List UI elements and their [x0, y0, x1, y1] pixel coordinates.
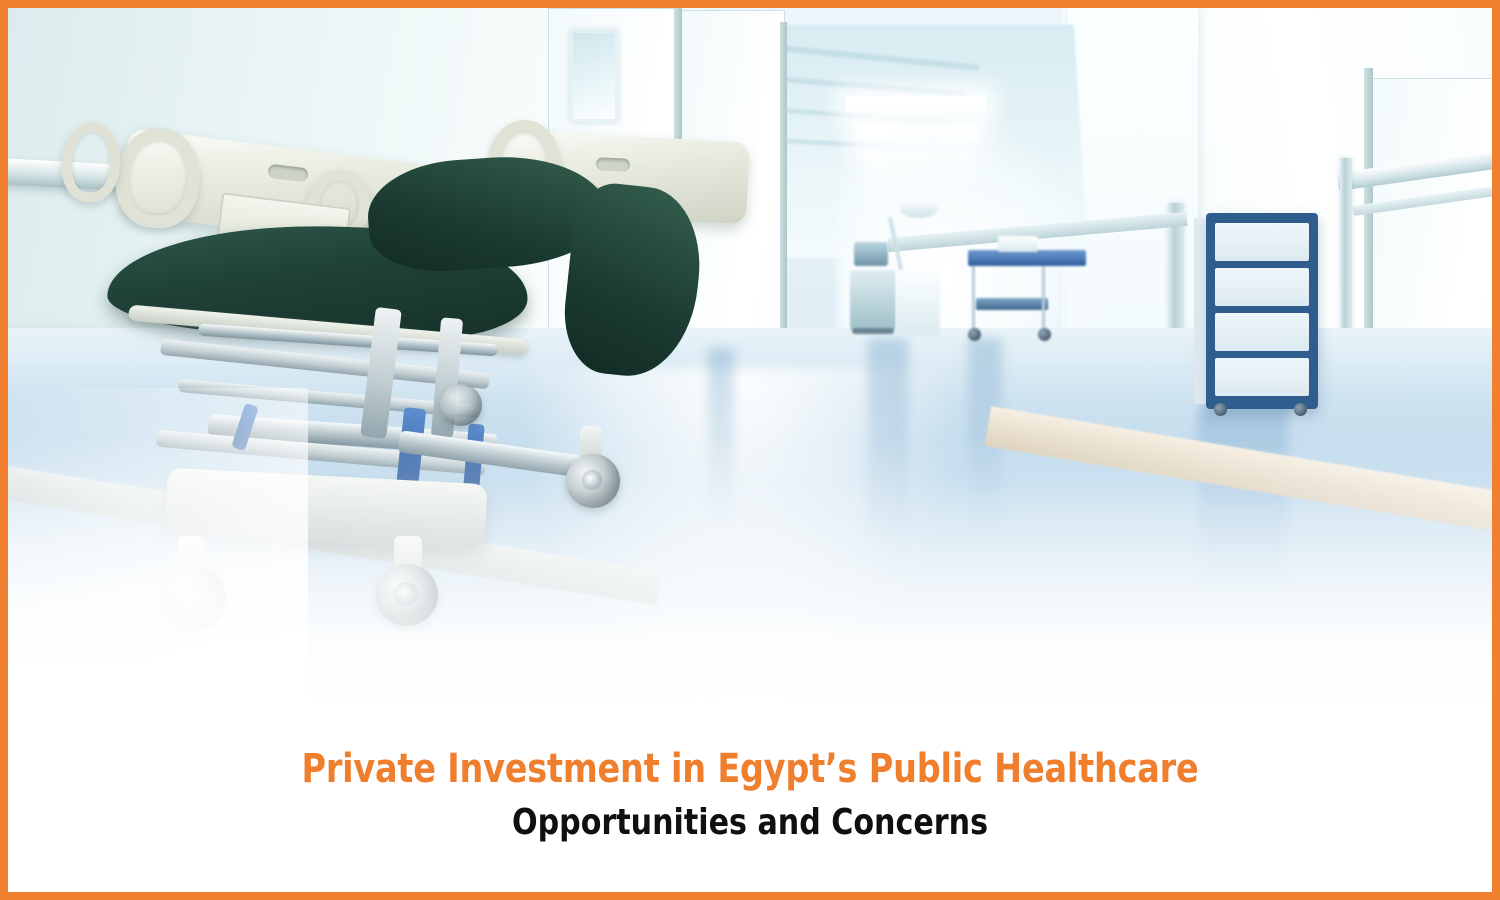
page-title: Private Investment in Egypt’s Public Hea… [60, 746, 1440, 792]
ceiling-light-1 [846, 96, 986, 111]
floor-reflection-3 [1198, 408, 1288, 608]
caster-hub-3 [582, 470, 602, 490]
cart-drawer-2 [1215, 268, 1309, 306]
bed-base-frame [164, 468, 487, 551]
poster-canvas: Private Investment in Egypt’s Public Hea… [8, 8, 1492, 892]
blue-supply-cart [1206, 213, 1318, 409]
caster-wheel-4 [440, 384, 482, 426]
hospital-corridor-photo [8, 8, 1492, 708]
cart-caster-right [1294, 403, 1307, 416]
floor-reflection-1 [868, 338, 908, 568]
title-block: Private Investment in Egypt’s Public Hea… [8, 698, 1492, 888]
cart-drawer-3 [1215, 313, 1309, 351]
bed-rail-slot-far [596, 157, 631, 172]
poster-frame: Private Investment in Egypt’s Public Hea… [0, 0, 1500, 900]
caster-hub-2 [394, 582, 418, 606]
page-subtitle: Opportunities and Concerns [60, 802, 1440, 843]
equipment-cabinet [896, 270, 940, 336]
bed-rail-loop-near-2 [59, 120, 122, 204]
cart-drawer-4 [1215, 358, 1309, 396]
floor-reflection-4 [708, 348, 734, 528]
exam-lamp [884, 200, 940, 280]
cart-drawer-1 [1215, 223, 1309, 261]
cart-caster-left [1214, 403, 1227, 416]
hospital-gurney [68, 108, 708, 668]
instrument-trolley [968, 236, 1088, 346]
caster-hub-1 [180, 586, 206, 612]
